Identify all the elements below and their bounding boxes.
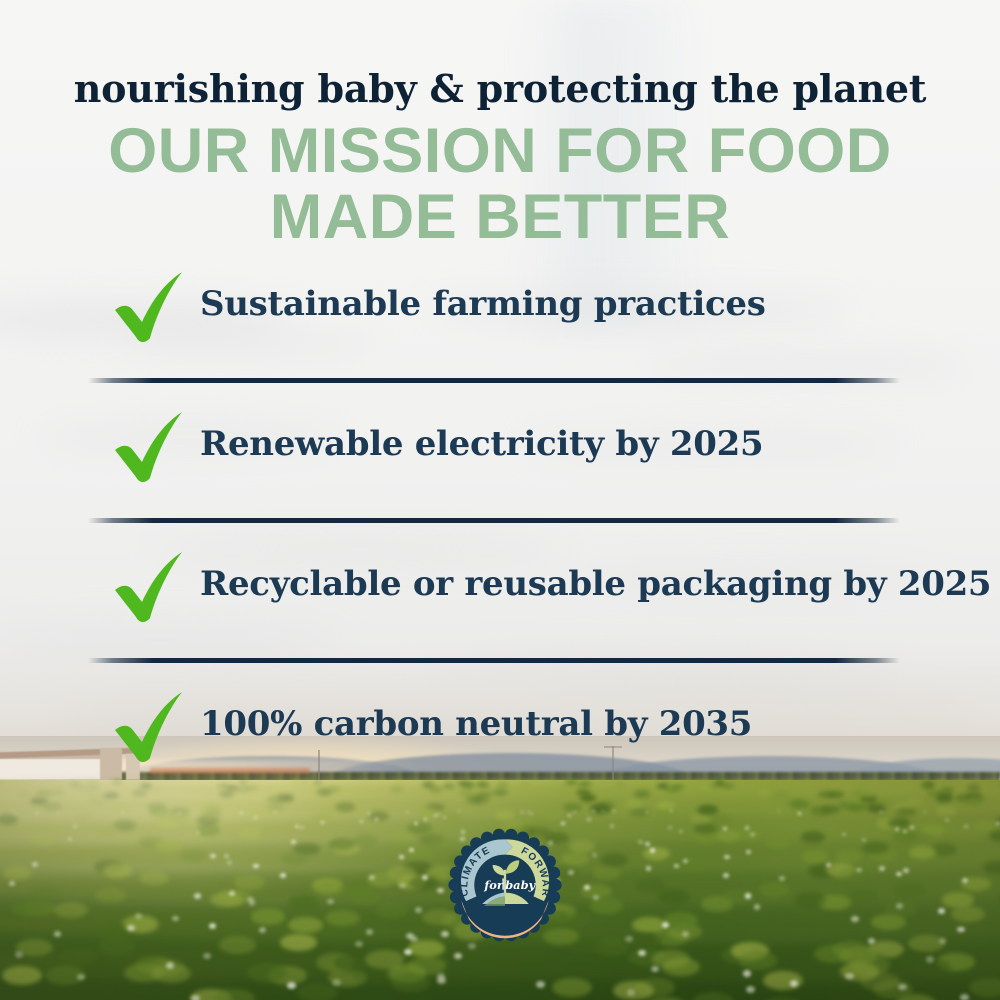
list-divider	[88, 518, 900, 523]
commitment-item: Sustainable farming practices	[0, 266, 1000, 406]
commitment-label: 100% carbon neutral by 2035	[200, 704, 960, 744]
check-icon	[112, 552, 188, 628]
commitment-label: Sustainable farming practices	[200, 284, 960, 324]
check-icon	[112, 272, 188, 348]
commitment-label: Renewable electricity by 2025	[200, 424, 960, 464]
list-divider	[88, 378, 900, 383]
commitment-item: Recyclable or reusable packaging by 2025	[0, 546, 1000, 686]
commitment-item: 100% carbon neutral by 2035	[0, 686, 1000, 826]
poster-canvas: nourishing baby & protecting the planet …	[0, 0, 1000, 1000]
commitment-item: Renewable electricity by 2025	[0, 406, 1000, 546]
page-title: OUR MISSION FOR FOOD MADE BETTER	[0, 118, 1000, 250]
badge-center-for: for	[483, 878, 503, 892]
page-title-line-1: OUR MISSION FOR FOOD	[0, 118, 1000, 184]
list-divider	[88, 658, 900, 663]
climate-forward-nutrition-badge: for baby CLIMATE FORWARD NUTRITION	[448, 828, 562, 942]
page-title-line-2: MADE BETTER	[0, 184, 1000, 250]
eyebrow-tagline: nourishing baby & protecting the planet	[0, 66, 1000, 111]
check-icon	[112, 412, 188, 488]
commitment-list: Sustainable farming practicesRenewable e…	[0, 266, 1000, 826]
badge-center-baby: baby	[505, 878, 536, 892]
commitment-label: Recyclable or reusable packaging by 2025	[200, 564, 960, 604]
check-icon	[112, 692, 188, 768]
